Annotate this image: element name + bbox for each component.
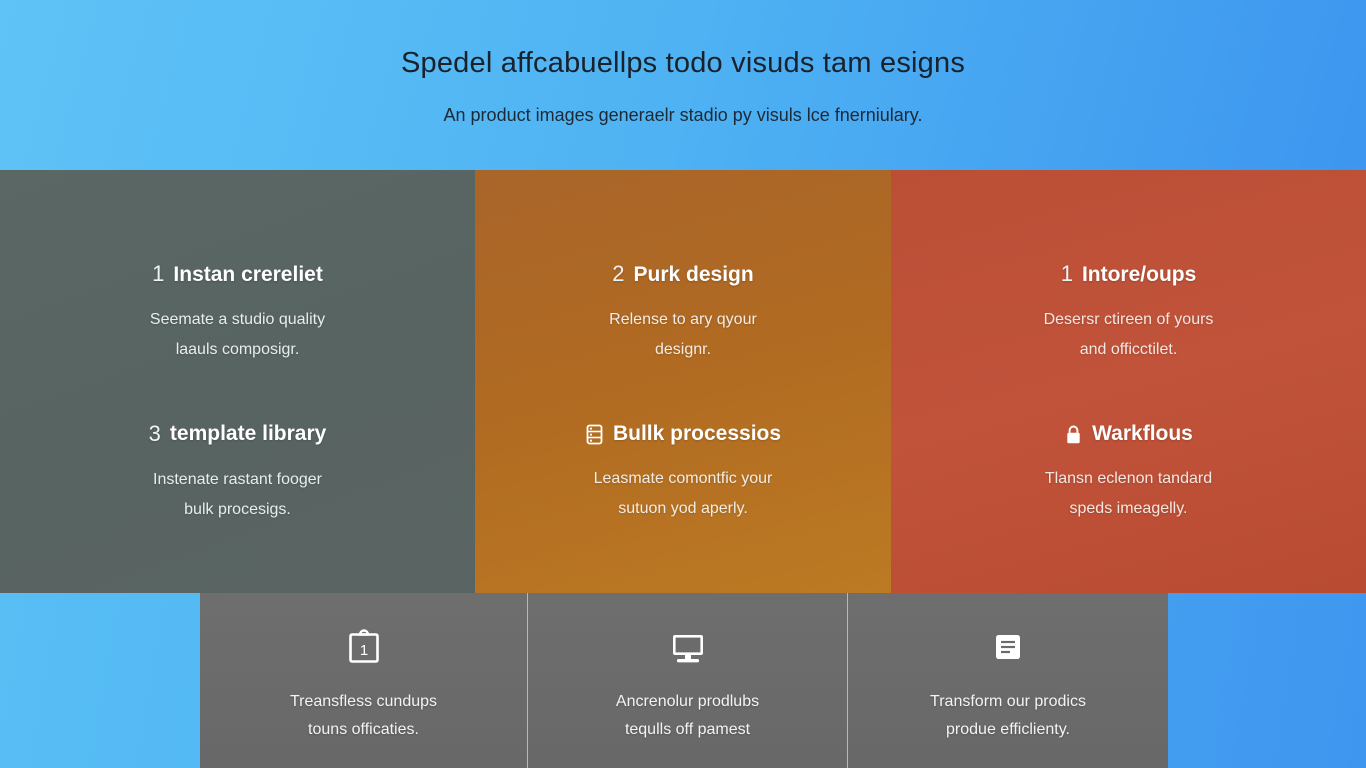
bottom-card-text: Treansfless cundups touns officaties. (290, 688, 437, 744)
feature-panels: 1 Instan crereliet Seemate a studio qual… (0, 170, 1366, 593)
feature-description-line1: Seemate a studio quality (150, 311, 325, 328)
panel-slate: 1 Instan crereliet Seemate a studio qual… (0, 170, 475, 593)
bottom-card-strip: 1 Treansfless cundups touns officaties. … (200, 593, 1168, 768)
panel-orange: 2 Purk design Relense to ary qyour desig… (475, 170, 891, 593)
monitor-icon (665, 626, 711, 672)
lock-icon (1064, 424, 1083, 445)
feature-cell-template-library[interactable]: 3 template library Instenate rastant foo… (0, 423, 475, 526)
feature-title: template library (170, 423, 326, 444)
bottom-card-text: Transform our prodics produe efficlienty… (930, 688, 1086, 744)
feature-heading: 3 template library (149, 423, 327, 445)
feature-description: Desersr ctireen of yours and officctilet… (1044, 305, 1214, 366)
feature-number-badge: 2 (612, 263, 624, 285)
page-title: Spedel affcabuellps todo visuds tam esig… (401, 48, 965, 80)
clipboard-one-icon: 1 (341, 626, 387, 672)
svg-text:1: 1 (359, 642, 367, 659)
feature-number-badge: 1 (152, 263, 164, 285)
feature-cell-workflows[interactable]: Warkflous Tlansn eclenon tandard speds i… (891, 423, 1366, 525)
feature-description-line1: Tlansn eclenon tandard (1045, 470, 1212, 487)
feature-cell-bulk-processing[interactable]: Bullk processios Leasmate comontfic your… (475, 423, 891, 525)
feature-description: Leasmate comontfic your sutuon yod aperl… (594, 464, 773, 525)
feature-heading: 2 Purk design (612, 263, 753, 285)
feature-description: Instenate rastant fooger bulk procesigs. (153, 465, 322, 526)
panel-red: 1 Intore/oups Desersr ctireen of yours a… (891, 170, 1366, 593)
feature-description-line1: Relense to ary qyour (609, 311, 757, 328)
feature-description: Tlansn eclenon tandard speds imeagelly. (1045, 464, 1212, 525)
feature-cell-intore-groups[interactable]: 1 Intore/oups Desersr ctireen of yours a… (891, 263, 1366, 366)
feature-number-badge: 1 (1061, 263, 1073, 285)
bottom-card-line1: Ancrenolur prodlubs (616, 693, 759, 710)
feature-description-line2: laauls composigr. (176, 341, 300, 358)
feature-title: Warkflous (1092, 423, 1193, 444)
bottom-card-clipboard[interactable]: 1 Treansfless cundups touns officaties. (200, 593, 527, 768)
bottom-card-monitor[interactable]: Ancrenolur prodlubs tequlls off pamest (527, 593, 847, 768)
feature-description-line1: Instenate rastant fooger (153, 471, 322, 488)
bottom-card-line1: Treansfless cundups (290, 693, 437, 710)
feature-heading: 1 Intore/oups (1061, 263, 1197, 285)
feature-description-line2: and officctilet. (1080, 341, 1178, 358)
bottom-card-text: Ancrenolur prodlubs tequlls off pamest (616, 688, 759, 744)
feature-description: Seemate a studio quality laauls composig… (150, 305, 325, 366)
feature-title: Instan crereliet (173, 264, 322, 285)
feature-heading: Bullk processios (585, 423, 781, 444)
feature-description-line2: speds imeagelly. (1070, 500, 1188, 517)
hero-header: Spedel affcabuellps todo visuds tam esig… (0, 0, 1366, 170)
bottom-card-line2: tequlls off pamest (625, 721, 750, 738)
feature-heading: 1 Instan crereliet (152, 263, 323, 285)
bottom-card-line2: produe efficlienty. (946, 721, 1070, 738)
server-box-icon (585, 424, 604, 445)
feature-description-line1: Leasmate comontfic your (594, 470, 773, 487)
feature-description-line1: Desersr ctireen of yours (1044, 311, 1214, 328)
page-subtitle: An product images generaelr stadio py vi… (444, 106, 923, 126)
bottom-card-line1: Transform our prodics (930, 693, 1086, 710)
feature-title: Purk design (634, 264, 754, 285)
bottom-card-document[interactable]: Transform our prodics produe efficlienty… (847, 593, 1168, 768)
feature-title: Intore/oups (1082, 264, 1196, 285)
document-lines-icon (985, 626, 1031, 672)
feature-cell-instant-create[interactable]: 1 Instan crereliet Seemate a studio qual… (0, 263, 475, 366)
feature-heading: Warkflous (1064, 423, 1193, 444)
feature-cell-purk-design[interactable]: 2 Purk design Relense to ary qyour desig… (475, 263, 891, 366)
feature-description-line2: bulk procesigs. (184, 501, 291, 518)
bottom-card-line2: touns officaties. (308, 721, 419, 738)
feature-description: Relense to ary qyour designr. (609, 305, 757, 366)
feature-number-badge: 3 (149, 423, 161, 445)
feature-title: Bullk processios (613, 423, 781, 444)
feature-description-line2: designr. (655, 341, 711, 358)
page-root: Spedel affcabuellps todo visuds tam esig… (0, 0, 1366, 768)
feature-description-line2: sutuon yod aperly. (618, 500, 748, 517)
